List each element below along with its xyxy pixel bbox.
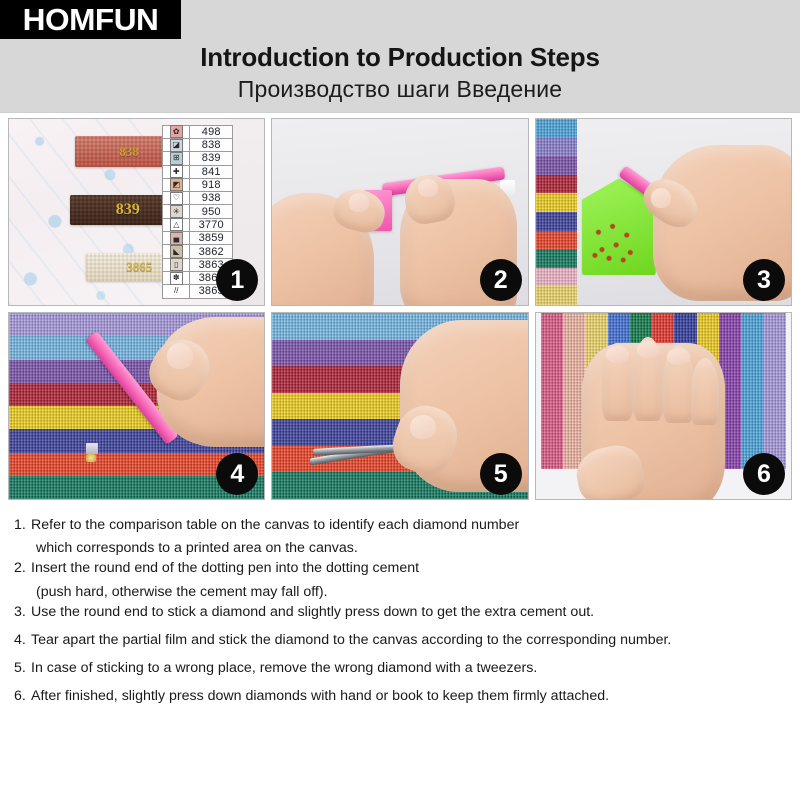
instruction-number: 5.: [14, 661, 31, 675]
canvas-stripe: [536, 156, 577, 175]
table-row: △ 3770: [163, 219, 232, 232]
instruction-text: Refer to the comparison table on the can…: [31, 518, 786, 555]
code-cell: 918: [190, 179, 232, 191]
symbol-swatch: ◪: [170, 139, 183, 152]
instruction-item: 2. Insert the round end of the dotting p…: [14, 561, 786, 598]
symbol-cell: △: [163, 219, 190, 231]
code-cell: 839: [190, 152, 232, 164]
instruction-text: Use the round end to stick a diamond and…: [31, 605, 786, 619]
code-cell: 3859: [190, 232, 232, 244]
canvas-stripe: [536, 286, 577, 305]
fingernail: [167, 343, 193, 369]
table-row: ◣ 3862: [163, 245, 232, 258]
symbol-swatch: ▯: [170, 258, 183, 271]
symbol-swatch: ♡: [170, 192, 183, 205]
symbol-swatch: △: [170, 218, 183, 231]
packet-label: 839: [116, 201, 140, 219]
symbol-swatch: ▄: [170, 232, 183, 245]
step-number-badge: 6: [743, 453, 785, 495]
table-row: ✳ 950: [163, 205, 232, 218]
step-panel-3: 3: [535, 118, 792, 306]
table-row: ◪ 838: [163, 139, 232, 152]
symbol-swatch: ⊞: [170, 152, 183, 165]
symbol-swatch: //: [171, 286, 182, 297]
step-panel-6: 6: [535, 312, 792, 500]
symbol-swatch: ✚: [170, 165, 183, 178]
fingernail: [667, 348, 690, 365]
pen-metal-tip: [86, 443, 99, 454]
instruction-text: Tear apart the partial film and stick th…: [31, 633, 786, 647]
step-panel-1: 838 839 3865 ✿ 498 ◪ 838 ⊞ 839: [8, 118, 265, 306]
step-number-badge: 5: [480, 453, 522, 495]
code-cell: 3770: [190, 219, 232, 231]
fingernail: [637, 341, 660, 358]
instruction-line: Insert the round end of the dotting pen …: [31, 561, 786, 575]
symbol-cell: ◣: [163, 245, 190, 257]
symbol-cell: ✽: [163, 272, 190, 284]
canvas-stripe: [536, 212, 577, 231]
packet-label: 838: [119, 144, 139, 160]
canvas-stripe: [536, 268, 577, 287]
table-row: ⊞ 839: [163, 152, 232, 165]
diamond-bead: [86, 454, 96, 461]
code-cell: 950: [190, 205, 232, 217]
table-row: ◩ 918: [163, 179, 232, 192]
instruction-line: Refer to the comparison table on the can…: [31, 518, 786, 532]
table-row: ♡ 938: [163, 192, 232, 205]
instruction-text: Insert the round end of the dotting pen …: [31, 561, 786, 598]
striped-canvas: [536, 119, 577, 305]
fingernail: [410, 415, 436, 439]
symbol-cell: ✿: [163, 126, 190, 138]
instruction-item: 5. In case of sticking to a wrong place,…: [14, 661, 786, 675]
table-row: ✚ 841: [163, 166, 232, 179]
symbol-cell: ✚: [163, 166, 190, 178]
brand-name: HOMFUN: [23, 4, 159, 35]
step-panel-4: 4: [8, 312, 265, 500]
step-panel-2: 2: [271, 118, 528, 306]
instruction-list: 1. Refer to the comparison table on the …: [0, 508, 800, 710]
instruction-text: After finished, slightly press down diam…: [31, 689, 786, 703]
page-header: HOMFUN Introduction to Production Steps …: [0, 0, 800, 113]
table-row: ▄ 3859: [163, 232, 232, 245]
canvas-stripe: [536, 193, 577, 212]
table-row: ✿ 498: [163, 126, 232, 139]
symbol-swatch: ✽: [170, 272, 183, 285]
code-cell: 841: [190, 166, 232, 178]
symbol-cell: ♡: [163, 192, 190, 204]
fingernail: [418, 179, 438, 198]
fingernail: [651, 188, 671, 208]
canvas-stripe: [536, 119, 577, 138]
symbol-cell: ◪: [163, 139, 190, 151]
fingernail: [349, 193, 369, 212]
instruction-line: (push hard, otherwise the cement may fal…: [31, 585, 786, 599]
step-number-badge: 3: [743, 259, 785, 301]
page-title-russian: Производство шаги Введение: [0, 76, 800, 103]
canvas-stripe: [536, 231, 577, 250]
symbol-swatch: ◩: [170, 178, 183, 191]
code-cell: 498: [190, 126, 232, 138]
canvas-stripe: [536, 175, 577, 194]
step-number-badge: 2: [480, 259, 522, 301]
instruction-item: 6. After finished, slightly press down d…: [14, 689, 786, 703]
code-cell: 3862: [190, 245, 232, 257]
canvas-stripe: [741, 313, 763, 469]
instruction-number: 2.: [14, 561, 31, 575]
canvas-stripe: [536, 138, 577, 157]
symbol-cell: ◩: [163, 179, 190, 191]
symbol-cell: //: [163, 285, 190, 297]
instruction-item: 1. Refer to the comparison table on the …: [14, 518, 786, 555]
step-panel-grid: 838 839 3865 ✿ 498 ◪ 838 ⊞ 839: [8, 118, 792, 500]
instruction-item: 4. Tear apart the partial film and stick…: [14, 633, 786, 647]
page-title-english: Introduction to Production Steps: [0, 42, 800, 73]
instruction-number: 6.: [14, 689, 31, 703]
canvas-stripe: [541, 313, 563, 469]
canvas-stripe: [536, 249, 577, 268]
instruction-number: 1.: [14, 518, 31, 532]
instruction-number: 3.: [14, 605, 31, 619]
instruction-number: 4.: [14, 633, 31, 647]
instruction-text: In case of sticking to a wrong place, re…: [31, 661, 786, 675]
packet-label: 3865: [126, 259, 152, 275]
instruction-sheet: HOMFUN Introduction to Production Steps …: [0, 0, 800, 800]
instruction-item: 3. Use the round end to stick a diamond …: [14, 605, 786, 619]
symbol-swatch: ✿: [170, 125, 183, 138]
fingernail: [606, 346, 629, 363]
symbol-cell: ✳: [163, 205, 190, 217]
homfun-logo: HOMFUN: [0, 0, 181, 39]
symbol-swatch: ✳: [170, 205, 183, 218]
instruction-line: which corresponds to a printed area on t…: [31, 541, 786, 555]
symbol-swatch: ◣: [170, 245, 183, 258]
canvas-stripe: [764, 313, 786, 469]
symbol-cell: ▄: [163, 232, 190, 244]
step-panel-5: 5: [271, 312, 528, 500]
symbol-cell: ⊞: [163, 152, 190, 164]
code-cell: 838: [190, 139, 232, 151]
code-cell: 938: [190, 192, 232, 204]
symbol-cell: ▯: [163, 259, 190, 271]
